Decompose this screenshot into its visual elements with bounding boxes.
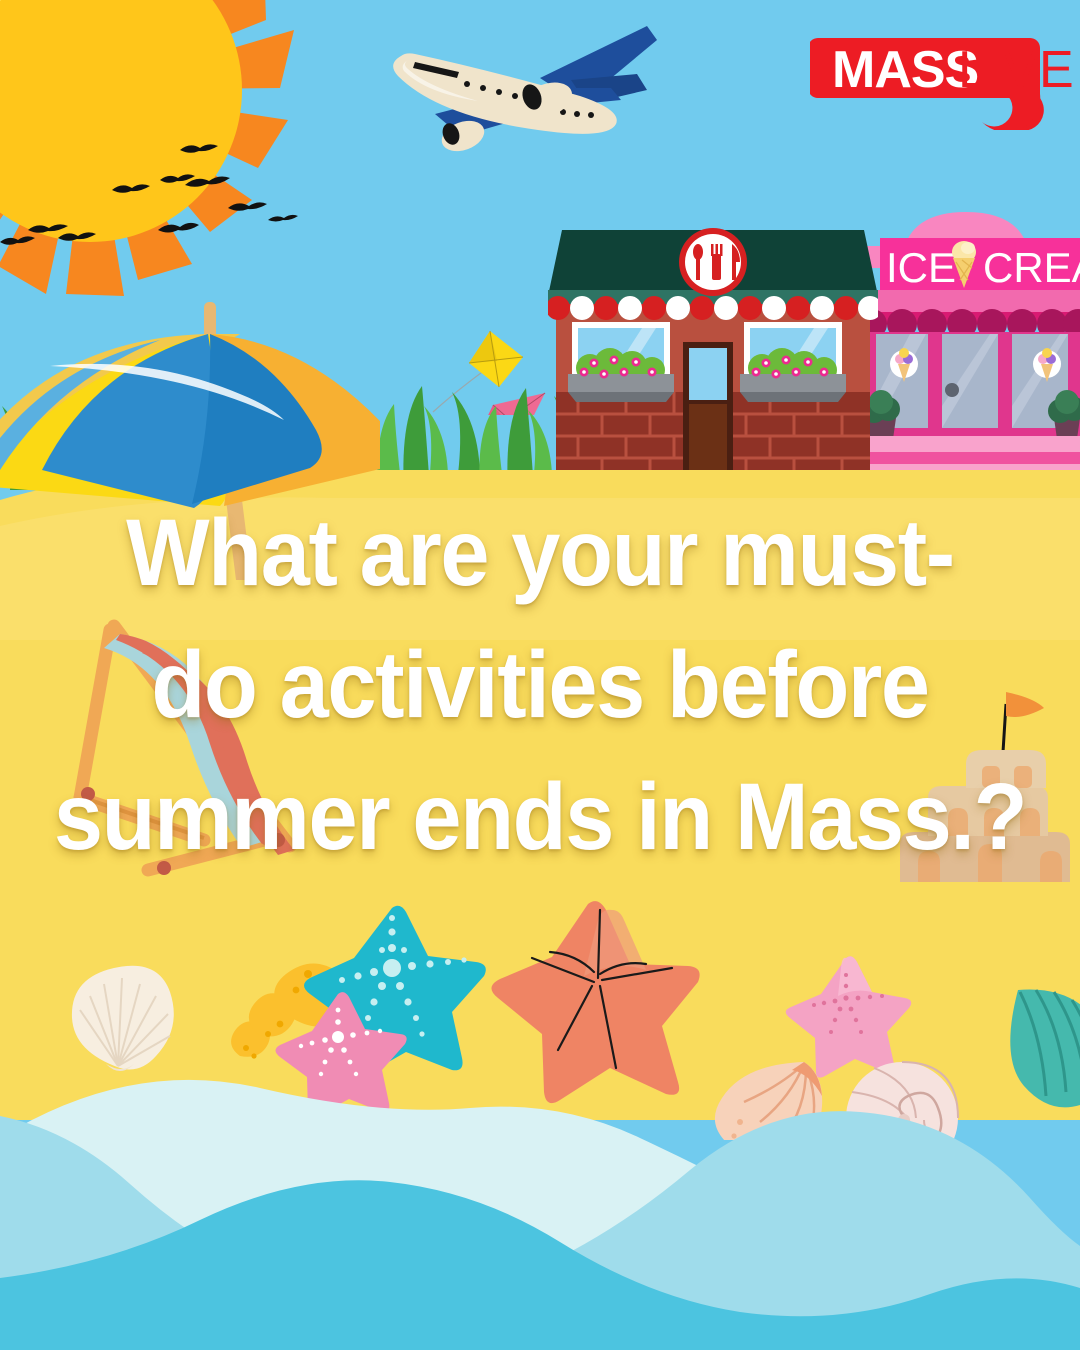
cutlery-icon — [679, 228, 747, 296]
airplane-icon — [375, 18, 660, 178]
ice-cream-shop-building: ICE CREAM — [864, 206, 1080, 480]
poster-canvas: ICE CREAM — [0, 0, 1080, 1350]
deck-chair — [28, 600, 338, 890]
ocean-waves — [0, 1020, 1080, 1350]
ice-cream-sign-left: ICE — [886, 244, 956, 291]
birds-flock — [0, 130, 340, 290]
masslive-logo[interactable]: MASS LIVE — [810, 32, 1074, 130]
logo-mass-text: MASS — [832, 41, 978, 99]
logo-live-text: LIVE — [958, 41, 1074, 99]
beach-umbrella — [0, 280, 380, 600]
ice-cream-sign-right: CREAM — [983, 244, 1080, 291]
